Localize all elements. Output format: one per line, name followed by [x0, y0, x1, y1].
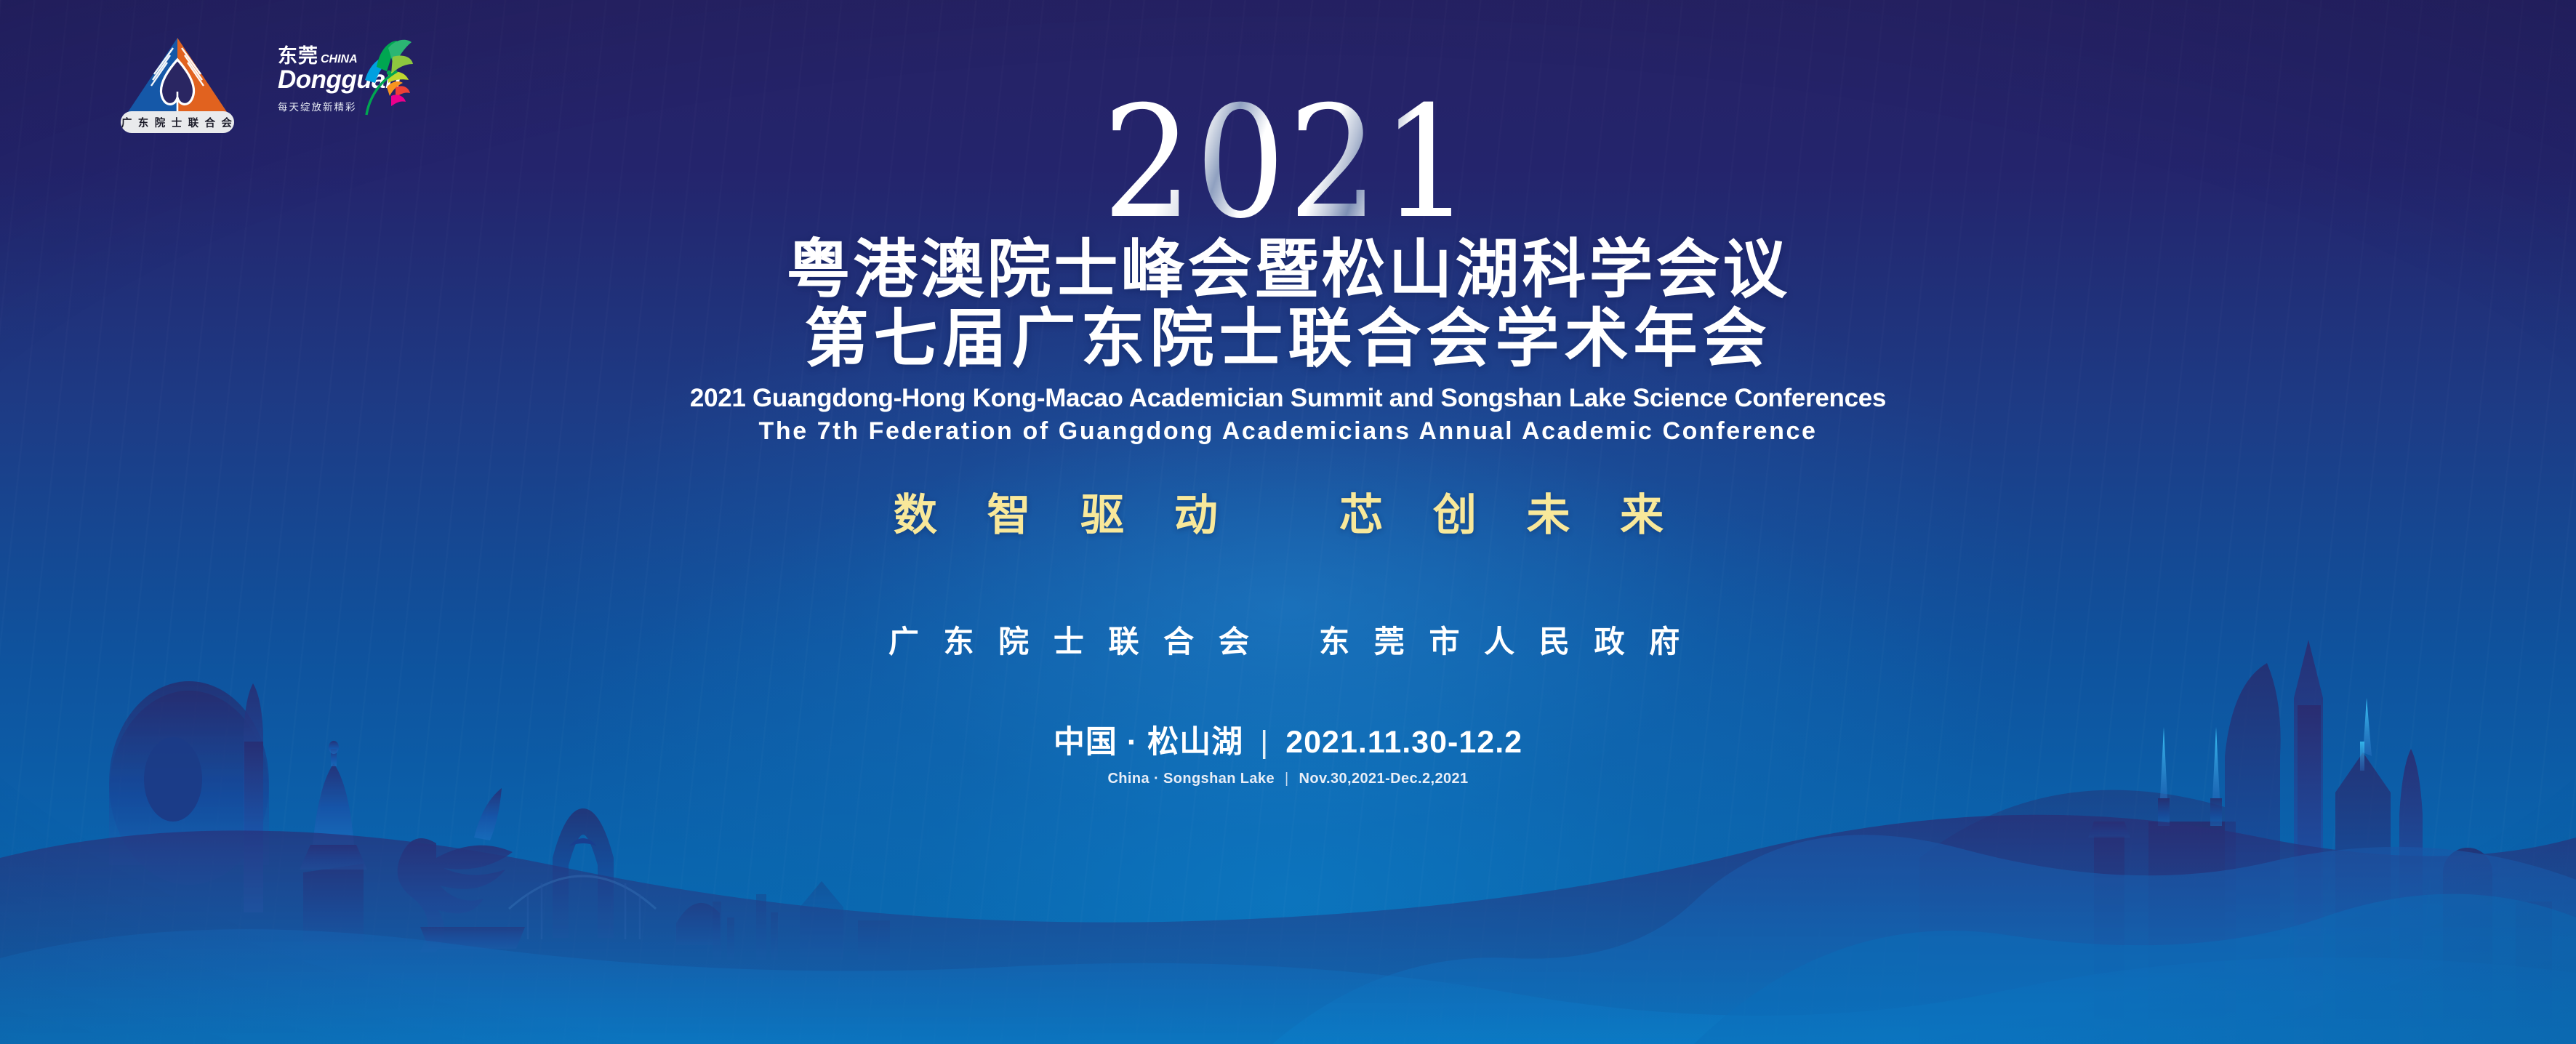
organizer-2: 东 莞 市 人 民 政 府: [1319, 625, 1688, 659]
wave-front: [0, 929, 2576, 1044]
venue-date-cn: 中国 · 松山湖 | 2021.11.30-12.2: [0, 717, 2576, 762]
subtitle-en-line2: The 7th Federation of Guangdong Academic…: [0, 417, 2576, 446]
conference-subtitle-en: 2021 Guangdong-Hong Kong-Macao Academici…: [0, 383, 2576, 446]
organizers: 广 东 院 士 联 合 会 东 莞 市 人 民 政 府: [0, 617, 2576, 662]
location-cn: 中国 · 松山湖: [1054, 725, 1243, 760]
conference-title-cn: 粤港澳院士峰会暨松山湖科学会议 第七届广东院士联合会学术年会: [0, 235, 2576, 373]
venue-divider-en: |: [1279, 771, 1295, 787]
left-lowrise: [713, 881, 890, 960]
slogan-part-2: 芯 创 未 来: [1339, 491, 1682, 539]
sculpture: [398, 788, 525, 952]
venue-divider: |: [1253, 725, 1276, 760]
year-headline: 2021: [1102, 92, 1474, 233]
venue-date-en: China · Songshan Lake | Nov.30,2021-Dec.…: [0, 771, 2576, 787]
column-building: [2088, 822, 2130, 1044]
subtitle-en-line1: 2021 Guangdong-Hong Kong-Macao Academici…: [0, 383, 2576, 414]
date-cn: 2021.11.30-12.2: [1285, 725, 1522, 760]
location-en: China · Songshan Lake: [1107, 771, 1275, 787]
conference-slogan: 数 智 驱 动 芯 创 未 来: [0, 480, 2576, 543]
wave-mid: [1272, 835, 2576, 1044]
date-en: Nov.30,2021-Dec.2,2021: [1299, 771, 1469, 787]
suspension-bridge: [509, 808, 720, 945]
slogan-part-1: 数 智 驱 动: [894, 491, 1237, 539]
tv-tower: [2399, 749, 2423, 1044]
banner-content: 2021 粤港澳院士峰会暨松山湖科学会议 第七届广东院士联合会学术年会 2021…: [0, 0, 2576, 787]
organizer-1: 广 东 院 士 联 合 会: [888, 625, 1257, 659]
rounded-tower: [2443, 848, 2492, 1044]
title-cn-line2: 第七届广东院士联合会学术年会: [0, 304, 2576, 373]
wave-hill-right: [1694, 894, 2576, 1044]
wave-back: [0, 815, 2576, 1044]
conference-banner: 广 东 院 士 联 合 会 东莞 CHINA Dongguan 每天绽放新精彩: [0, 0, 2576, 1044]
